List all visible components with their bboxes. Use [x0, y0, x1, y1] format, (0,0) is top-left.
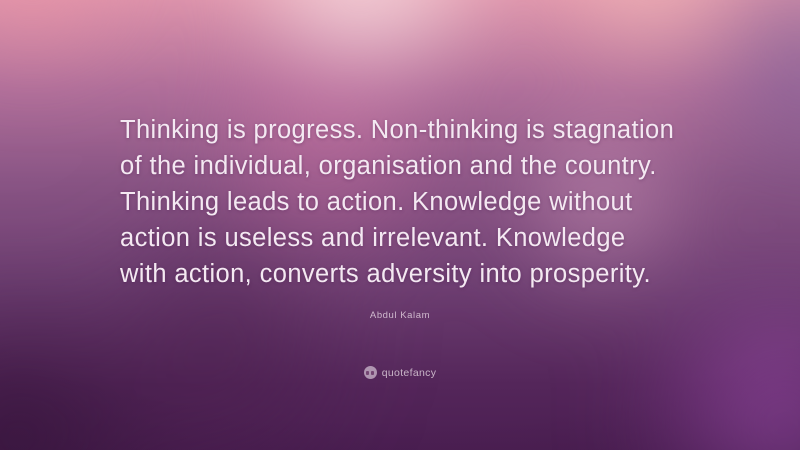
quote-mark-icon — [364, 366, 377, 379]
quote-wallpaper: Thinking is progress. Non-thinking is st… — [0, 0, 800, 450]
quote-line: action is useless and irrelevant. Knowle… — [120, 220, 680, 256]
quote-line: of the individual, organisation and the … — [120, 148, 680, 184]
quote-line: with action, converts adversity into pro… — [120, 256, 680, 292]
watermark[interactable]: quotefancy — [0, 366, 800, 379]
author-name: Abdul Kalam — [0, 310, 800, 321]
content-container: Thinking is progress. Non-thinking is st… — [0, 0, 800, 450]
quote-line: Thinking is progress. Non-thinking is st… — [120, 112, 680, 148]
quote-line: Thinking leads to action. Knowledge with… — [120, 184, 680, 220]
quote-text: Thinking is progress. Non-thinking is st… — [120, 112, 680, 292]
watermark-label: quotefancy — [382, 367, 437, 379]
